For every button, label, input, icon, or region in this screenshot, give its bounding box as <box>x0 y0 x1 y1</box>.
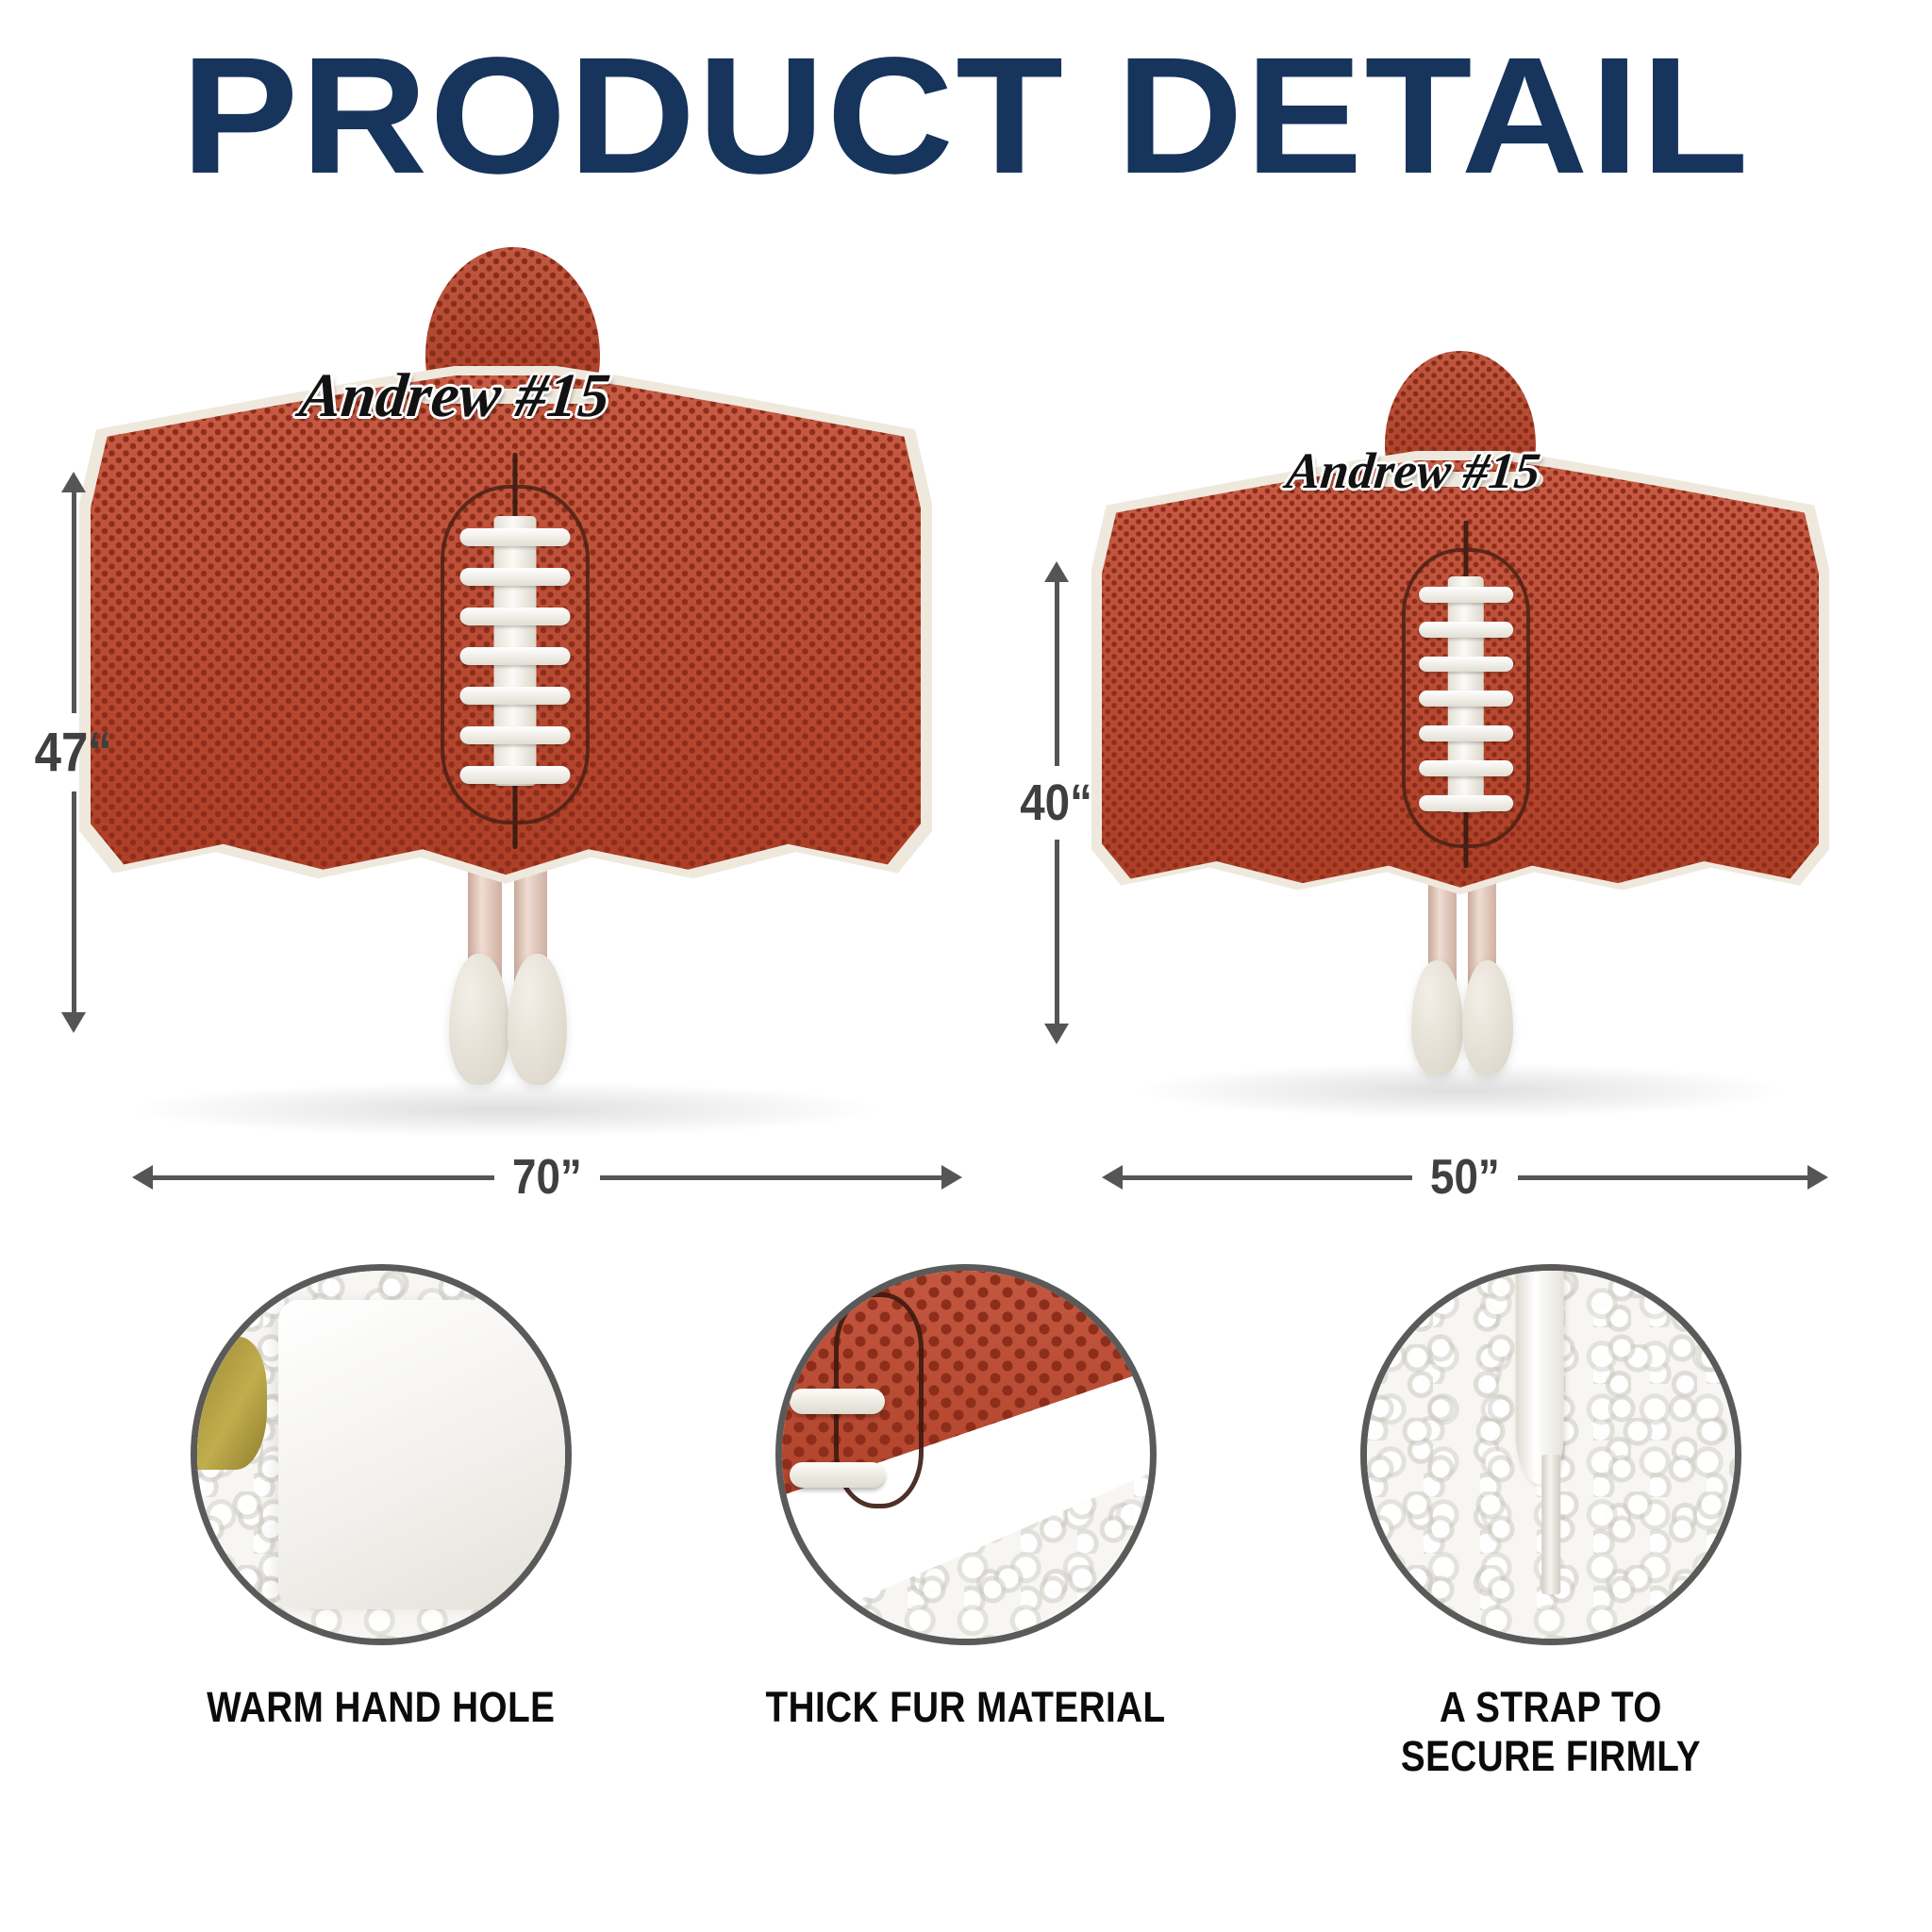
page-title: PRODUCT DETAIL <box>181 33 1751 199</box>
feature-highlights: WARM HAND HOLE THICK FUR MATERIAL A STRA… <box>0 1264 1932 1924</box>
dimension-width-youth: 50” <box>1102 1153 1828 1202</box>
personalization-text-adult: Andrew #15 <box>296 360 613 432</box>
product-figure-adult: Andrew #15 <box>91 283 921 1132</box>
dimension-line <box>1055 840 1059 1024</box>
lace-stitch <box>790 1462 885 1488</box>
arrow-left-icon <box>132 1165 153 1190</box>
arrow-up-icon <box>61 472 86 492</box>
dimension-height-adult: 47“ <box>45 472 102 1033</box>
dimension-line <box>1123 1175 1412 1180</box>
dimension-line <box>600 1175 941 1180</box>
dimension-height-youth: 40“ <box>1028 561 1085 1044</box>
personalization-text-youth: Andrew #15 <box>1284 441 1543 500</box>
slipper-left <box>449 954 508 1085</box>
feature-image-hand-hole <box>191 1264 572 1645</box>
lace-stitch <box>1419 622 1513 638</box>
dimension-line <box>1518 1175 1807 1180</box>
arrow-left-icon <box>1102 1165 1123 1190</box>
header: PRODUCT DETAIL <box>0 26 1932 206</box>
lace-stitch <box>1419 725 1513 741</box>
arrow-up-icon <box>1044 561 1069 582</box>
strap-band <box>1516 1264 1564 1484</box>
slipper-right <box>508 954 567 1085</box>
dimension-line <box>1055 582 1059 766</box>
arrow-down-icon <box>61 1012 86 1033</box>
football-lace-panel <box>444 453 586 849</box>
dimension-line <box>72 791 76 1012</box>
feature-hand-hole: WARM HAND HOLE <box>89 1264 674 1732</box>
lace-stitch <box>460 568 571 586</box>
arrow-right-icon <box>1807 1165 1828 1190</box>
feature-image-strap <box>1360 1264 1741 1645</box>
feature-caption-fur-material: THICK FUR MATERIAL <box>766 1683 1166 1732</box>
slipper-right <box>1462 960 1514 1075</box>
lace-stitch <box>1419 760 1513 776</box>
dimension-label-height-youth: 40“ <box>1021 766 1093 840</box>
hand-hole-sleeve <box>278 1300 572 1609</box>
lace-stitch <box>460 647 571 665</box>
lace-stitch <box>790 1389 885 1414</box>
lace-stitch <box>1419 691 1513 707</box>
lace-stitch <box>1419 795 1513 811</box>
feature-strap: A STRAP TO SECURE FIRMLY <box>1258 1264 1843 1781</box>
dimension-line <box>72 492 76 713</box>
feature-caption-strap: A STRAP TO SECURE FIRMLY <box>1401 1683 1701 1781</box>
feature-caption-hand-hole: WARM HAND HOLE <box>207 1683 555 1732</box>
hand-hole-opening <box>197 1337 267 1469</box>
dimension-label-width-youth: 50” <box>1419 1149 1511 1206</box>
football-lace-panel <box>1406 521 1526 868</box>
floor-shadow <box>124 1081 888 1138</box>
dimension-label-height-adult: 47“ <box>35 713 112 791</box>
feature-fur-material: THICK FUR MATERIAL <box>674 1264 1258 1732</box>
dimension-label-width-adult: 70” <box>501 1149 593 1206</box>
lace-stitch <box>460 528 571 546</box>
lace-stitch <box>1419 587 1513 603</box>
dimension-line <box>153 1175 494 1180</box>
arrow-right-icon <box>941 1165 962 1190</box>
feature-image-fur-material <box>775 1264 1157 1645</box>
product-figure-youth: Andrew #15 <box>1102 396 1819 1113</box>
lace-stitch <box>460 608 571 625</box>
strap-tail <box>1541 1455 1560 1594</box>
lace-stitch <box>460 726 571 744</box>
dimension-width-adult: 70” <box>132 1153 962 1202</box>
lace-stitch <box>1419 657 1513 673</box>
lace-stitch <box>460 766 571 784</box>
arrow-down-icon <box>1044 1024 1069 1044</box>
lace-stitch <box>460 687 571 705</box>
